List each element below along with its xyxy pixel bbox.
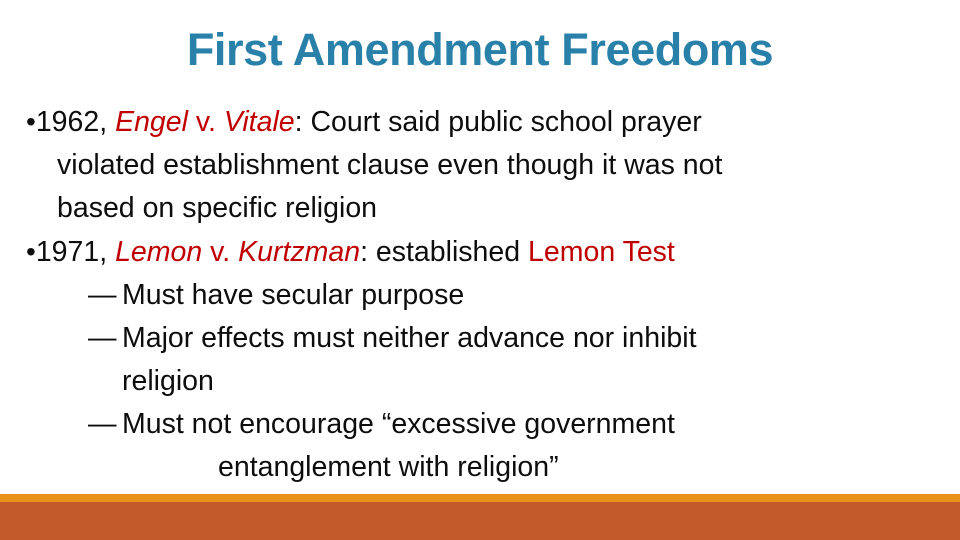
case-versus: v. (202, 236, 238, 268)
list-item-text: : established (360, 236, 528, 268)
highlighted-term: Lemon Test (528, 236, 675, 268)
list-item: •1962, Engel v. Vitale: Court said publi… (26, 100, 934, 230)
case-name-plaintiff: Engel (115, 106, 188, 138)
case-name-defendant: Vitale (224, 106, 295, 138)
em-dash-icon: — (88, 403, 122, 446)
bullet-icon: • (26, 236, 36, 267)
em-dash-icon: — (88, 317, 122, 360)
case-citation: Engel v. Vitale (115, 106, 295, 138)
sub-list-item-text: Must have secular purpose (122, 279, 464, 311)
list-item-year: 1971, (36, 236, 107, 268)
case-name-defendant: Kurtzman (238, 236, 360, 268)
case-citation: Lemon v. Kurtzman (115, 236, 360, 268)
sub-list-item-text: Major effects must neither advance nor i… (122, 322, 697, 354)
em-dash-icon: — (88, 274, 122, 317)
sub-list-item: —Must not encourage “excessive governmen… (26, 403, 934, 489)
sub-list-item: —Major effects must neither advance nor … (26, 317, 934, 403)
slide-body: •1962, Engel v. Vitale: Court said publi… (26, 100, 934, 489)
list-item-spacer (107, 236, 115, 268)
list-item-spacer (107, 106, 115, 138)
list-item-year: 1962, (36, 106, 107, 138)
sub-list-item-text: Must not encourage “excessive government (122, 408, 675, 440)
list-item-wrap-line: based on specific religion (45, 187, 934, 230)
case-name-plaintiff: Lemon (115, 236, 202, 268)
footer-accent-bar-thick (0, 502, 960, 540)
list-item: •1971, Lemon v. Kurtzman: established Le… (26, 230, 934, 274)
sub-list-item-wrap-line: religion (88, 360, 934, 403)
list-item-wrap-line: violated establishment clause even thoug… (45, 144, 934, 187)
sub-list-item-wrap-line: entanglement with religion” (88, 446, 934, 489)
case-versus: v. (188, 106, 224, 138)
footer-accent-bar-thin (0, 494, 960, 502)
slide-canvas: First Amendment Freedoms •1962, Engel v.… (0, 0, 960, 540)
list-item-text: : Court said public school prayer (295, 106, 702, 138)
bullet-icon: • (26, 106, 36, 137)
sub-list-item: —Must have secular purpose (26, 274, 934, 317)
page-title: First Amendment Freedoms (0, 24, 960, 76)
